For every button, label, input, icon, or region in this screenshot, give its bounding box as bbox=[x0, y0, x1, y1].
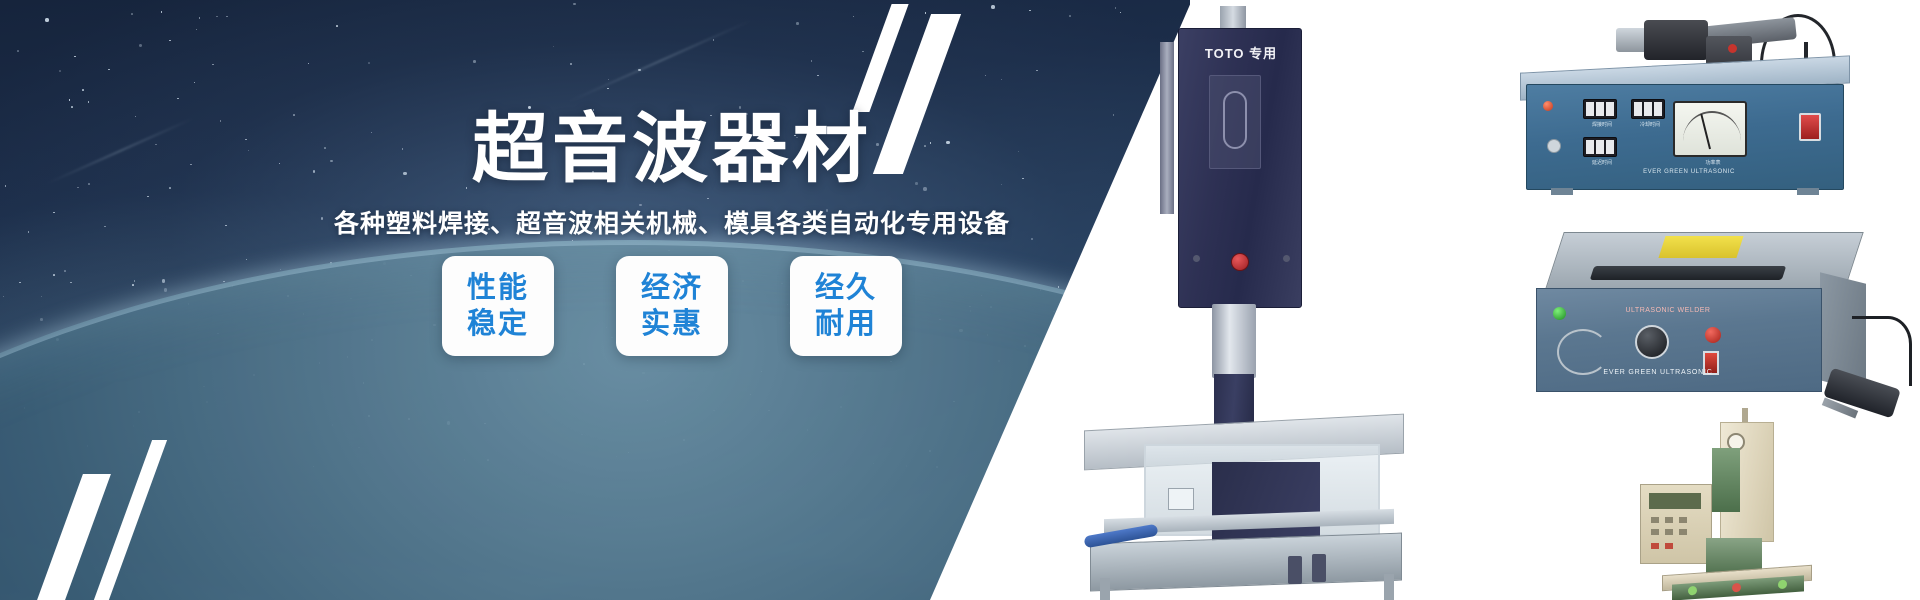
welder-head-emblem-icon bbox=[1223, 91, 1247, 149]
star-dot bbox=[570, 63, 573, 66]
power-led-icon bbox=[1543, 101, 1553, 111]
generator-connector-icon bbox=[1547, 139, 1561, 153]
thumbwheel-switch-group[interactable] bbox=[1583, 99, 1617, 119]
page-subtitle: 各种塑料焊接、超音波相关机械、模具各类自动化专用设备 bbox=[332, 208, 1012, 240]
star-dot bbox=[212, 64, 214, 66]
promo-banner: 超音波器材 各种塑料焊接、超音波相关机械、模具各类自动化专用设备 性能 稳定 经… bbox=[0, 0, 1920, 600]
star-dot bbox=[88, 183, 90, 185]
star-dot bbox=[245, 139, 247, 141]
analog-power-meter bbox=[1673, 101, 1747, 157]
badge-line-1: 经济 bbox=[641, 270, 703, 306]
base-led-red-icon bbox=[1732, 583, 1741, 593]
worktable-base bbox=[1090, 533, 1402, 592]
keypad-key-icon[interactable] bbox=[1665, 529, 1673, 535]
pedestal-top-rod bbox=[1742, 408, 1748, 422]
star-dot bbox=[985, 75, 987, 77]
meter-scale-arc bbox=[1683, 111, 1741, 141]
keypad-key-red-icon[interactable] bbox=[1665, 543, 1673, 549]
star-dot bbox=[169, 40, 171, 42]
badge-line-1: 性能 bbox=[467, 270, 529, 306]
star-dot bbox=[225, 225, 227, 227]
worktable-clamp-icon bbox=[1288, 556, 1302, 584]
star-dot bbox=[169, 187, 171, 189]
product-photo-large-welder: TOTO 专用 bbox=[1082, 6, 1412, 592]
transducer-body bbox=[1644, 20, 1708, 60]
star-dot bbox=[308, 63, 310, 65]
star-dot bbox=[162, 279, 166, 283]
star-dot bbox=[321, 217, 324, 220]
star-dot bbox=[607, 88, 609, 90]
star-dot bbox=[473, 60, 476, 63]
star-dot bbox=[5, 185, 7, 187]
star-dot bbox=[279, 163, 281, 165]
worktable-label-plate bbox=[1168, 488, 1194, 510]
star-dot bbox=[1029, 10, 1031, 12]
star-dot bbox=[131, 13, 133, 15]
star-dot bbox=[220, 120, 222, 122]
product-photo-pedestal-welder bbox=[1600, 420, 1830, 600]
star-dot bbox=[817, 75, 819, 77]
welder-screw-icon bbox=[1193, 255, 1200, 262]
spot-welder-title-label: ULTRASONIC WELDER bbox=[1593, 307, 1743, 314]
badge-line-2: 稳定 bbox=[467, 306, 529, 342]
star-dot bbox=[1031, 238, 1034, 241]
star-dot bbox=[28, 231, 30, 233]
star-dot bbox=[1001, 79, 1003, 81]
power-adjust-knob[interactable] bbox=[1635, 325, 1669, 359]
star-dot bbox=[64, 270, 66, 272]
welder-screw-icon bbox=[1283, 255, 1290, 262]
star-dot bbox=[71, 106, 73, 108]
star-dot bbox=[553, 46, 555, 48]
star-dot bbox=[313, 170, 316, 173]
star-dot bbox=[53, 212, 55, 214]
star-dot bbox=[368, 62, 370, 64]
star-dot bbox=[199, 17, 201, 19]
pedestal-control-panel[interactable] bbox=[1640, 484, 1712, 564]
star-dot bbox=[17, 50, 19, 52]
generator-brand-label: EVER GREEN ULTRASONIC bbox=[1579, 169, 1799, 175]
thumbwheel-switch-group[interactable] bbox=[1583, 137, 1617, 157]
star-dot bbox=[248, 150, 250, 152]
star-dot bbox=[925, 12, 927, 14]
pedestal-green-cover bbox=[1712, 448, 1740, 512]
hand-gun-cable bbox=[1852, 316, 1912, 386]
star-dot bbox=[164, 288, 168, 292]
feature-badge-durability[interactable]: 经久 耐用 bbox=[790, 256, 902, 356]
keypad-key-icon[interactable] bbox=[1651, 529, 1659, 535]
generator-foot bbox=[1551, 188, 1573, 195]
star-dot bbox=[108, 69, 110, 71]
star-dot bbox=[41, 296, 43, 298]
star-dot bbox=[70, 282, 72, 284]
star-dot bbox=[177, 98, 179, 100]
star-dot bbox=[336, 25, 338, 27]
star-dot bbox=[796, 22, 799, 25]
star-dot bbox=[246, 259, 248, 261]
star-dot bbox=[82, 89, 84, 91]
star-dot bbox=[104, 226, 106, 228]
product-photo-group: TOTO 专用 bbox=[1060, 0, 1920, 600]
star-dot bbox=[573, 3, 576, 6]
switch-label-cool-time: 冷却时间 bbox=[1633, 121, 1667, 128]
star-dot bbox=[853, 16, 855, 18]
start-button-icon[interactable] bbox=[1705, 327, 1721, 343]
star-dot bbox=[280, 269, 282, 271]
generator-foot bbox=[1797, 188, 1819, 195]
star-dot bbox=[713, 39, 715, 41]
meter-label: 功率表 bbox=[1693, 159, 1733, 166]
star-dot bbox=[196, 29, 198, 31]
star-dot bbox=[226, 16, 228, 18]
headline-block: 超音波器材 各种塑料焊接、超音波相关机械、模具各类自动化专用设备 bbox=[332, 108, 1012, 240]
keypad-key-icon[interactable] bbox=[1651, 517, 1659, 523]
star-dot bbox=[132, 284, 134, 286]
star-dot bbox=[1036, 70, 1038, 72]
welder-head-housing: TOTO 专用 bbox=[1178, 28, 1302, 308]
product-photo-generator: 焊接时间 冷却时间 延迟时间 功率表 EVER GREEN ULTRASONIC bbox=[1520, 18, 1850, 208]
badge-line-2: 耐用 bbox=[815, 306, 877, 342]
product-photo-spot-welder: ULTRASONIC WELDER EVER GREEN ULTRASONIC bbox=[1530, 228, 1870, 428]
star-dot bbox=[77, 187, 79, 189]
star-dot bbox=[59, 70, 61, 72]
spot-welder-front-panel: ULTRASONIC WELDER EVER GREEN ULTRASONIC bbox=[1536, 288, 1822, 392]
star-dot bbox=[88, 101, 90, 103]
star-dot bbox=[190, 164, 192, 166]
generator-front-panel: 焊接时间 冷却时间 延迟时间 功率表 EVER GREEN ULTRASONIC bbox=[1526, 84, 1844, 190]
power-rocker-switch[interactable] bbox=[1799, 113, 1821, 141]
keypad-key-icon[interactable] bbox=[1679, 517, 1687, 523]
spot-welder-handle bbox=[1590, 266, 1787, 280]
star-dot bbox=[155, 144, 157, 146]
star-dot bbox=[161, 11, 163, 13]
worktable-leg bbox=[1100, 578, 1110, 600]
base-led-green-icon bbox=[1688, 586, 1697, 596]
star-dot bbox=[194, 82, 196, 84]
star-dot bbox=[40, 318, 43, 321]
page-title: 超音波器材 bbox=[332, 108, 1012, 192]
keypad-key-icon[interactable] bbox=[1665, 517, 1673, 523]
star-dot bbox=[74, 56, 76, 58]
feature-badge-economy[interactable]: 经济 实惠 bbox=[616, 256, 728, 356]
star-dot bbox=[135, 116, 137, 118]
transducer-indicator-icon bbox=[1728, 44, 1737, 53]
thumbwheel-switch-group[interactable] bbox=[1631, 99, 1665, 119]
welder-shaft bbox=[1212, 304, 1256, 378]
star-dot bbox=[147, 196, 149, 198]
spot-welder-brand-label: EVER GREEN ULTRASONIC bbox=[1573, 369, 1743, 376]
star-dot bbox=[293, 114, 295, 116]
status-led-icon bbox=[1553, 307, 1566, 320]
switch-label-weld-time: 焊接时间 bbox=[1585, 121, 1619, 128]
star-dot bbox=[19, 282, 21, 284]
star-dot bbox=[811, 60, 813, 62]
feature-badge-performance[interactable]: 性能 稳定 bbox=[442, 256, 554, 356]
switch-label-delay-time: 延迟时间 bbox=[1585, 159, 1619, 166]
badge-line-2: 实惠 bbox=[641, 306, 703, 342]
welder-emergency-stop-icon bbox=[1231, 253, 1249, 271]
star-dot bbox=[139, 44, 143, 48]
worktable-clamp-icon bbox=[1312, 554, 1326, 582]
worktable-leg bbox=[1384, 574, 1394, 600]
star-dot bbox=[1022, 178, 1024, 180]
star-dot bbox=[3, 296, 5, 298]
star-dot bbox=[45, 18, 49, 22]
star-dot bbox=[862, 51, 864, 53]
star-dot bbox=[1018, 151, 1020, 153]
welder-brand-label: TOTO 专用 bbox=[1187, 43, 1295, 62]
star-dot bbox=[216, 16, 218, 18]
star-dot bbox=[53, 274, 55, 276]
welder-rail bbox=[1160, 42, 1174, 214]
star-dot bbox=[69, 99, 71, 101]
welder-worktable bbox=[1084, 410, 1408, 586]
spot-welder-warning-sticker bbox=[1658, 236, 1743, 258]
badge-line-1: 经久 bbox=[815, 270, 877, 306]
base-led-green-icon bbox=[1778, 580, 1787, 590]
keypad-key-red-icon[interactable] bbox=[1651, 543, 1659, 549]
feature-badge-row: 性能 稳定 经济 实惠 经久 耐用 bbox=[332, 256, 1012, 356]
star-dot bbox=[324, 147, 326, 149]
keypad-key-icon[interactable] bbox=[1679, 529, 1687, 535]
star-dot bbox=[134, 280, 136, 282]
pedestal-display bbox=[1649, 493, 1701, 509]
star-dot bbox=[991, 5, 995, 9]
star-dot bbox=[608, 79, 610, 81]
